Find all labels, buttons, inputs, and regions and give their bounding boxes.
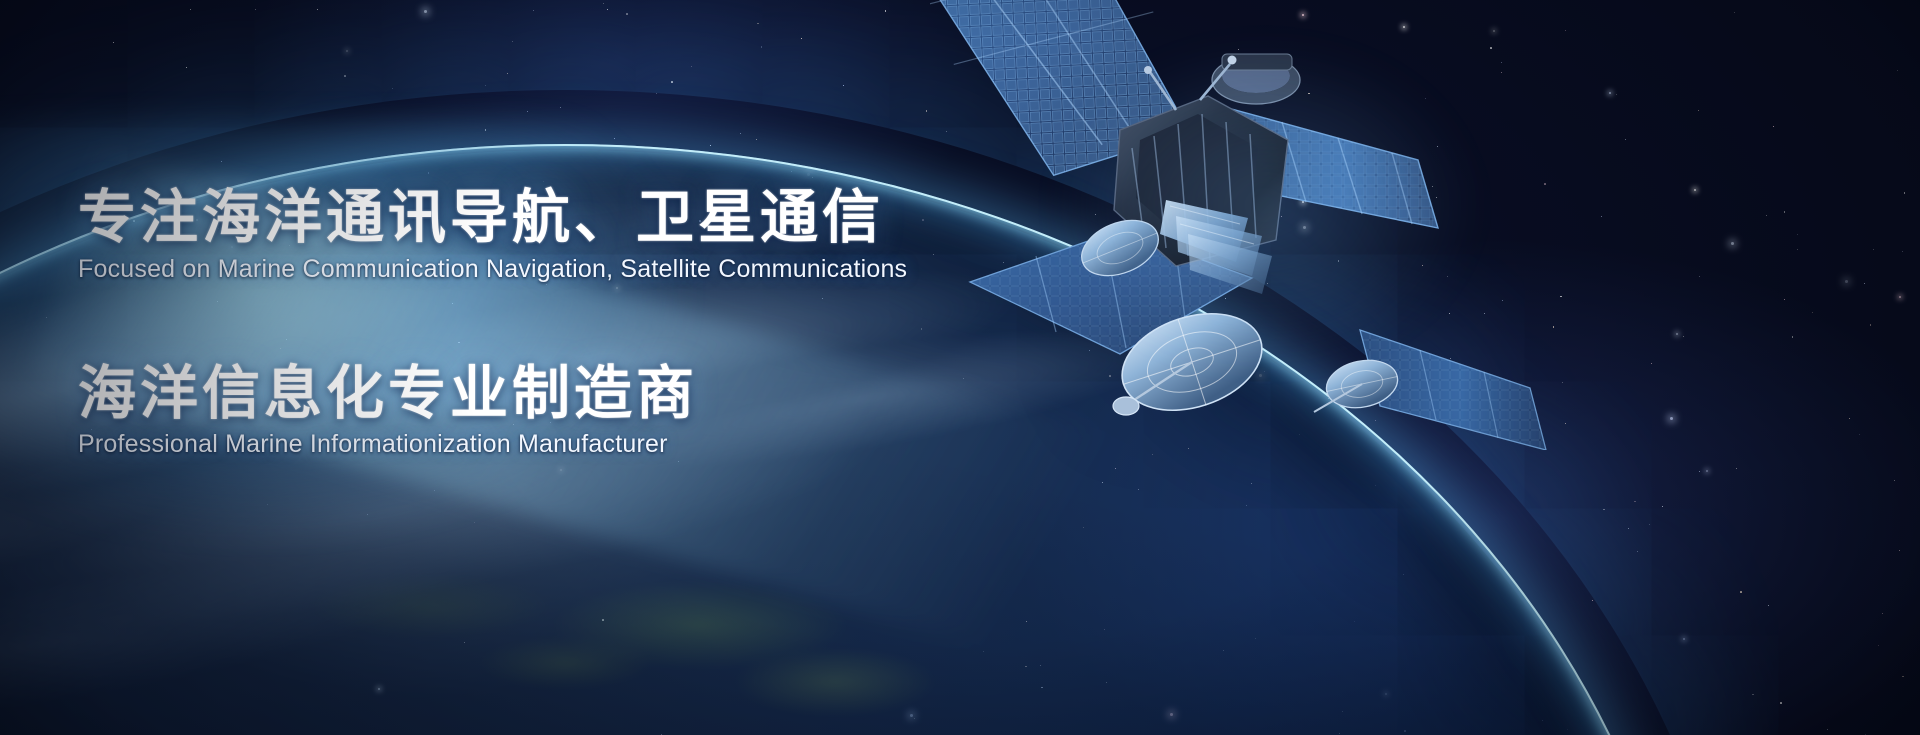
star: [1694, 189, 1696, 191]
star: [1699, 471, 1700, 472]
star: [1897, 70, 1898, 71]
star: [607, 9, 608, 10]
star: [1740, 591, 1742, 593]
star: [1882, 613, 1883, 614]
satellite-glow: [1050, 40, 1480, 370]
star: [255, 9, 256, 10]
star: [512, 41, 513, 42]
star: [1902, 676, 1904, 678]
slogan-primary-en: Focused on Marine Communication Navigati…: [78, 255, 1078, 284]
slogan-secondary-en: Professional Marine Informationization M…: [78, 430, 1078, 459]
star: [626, 13, 628, 15]
star: [1797, 249, 1798, 250]
star: [344, 75, 346, 77]
star: [1698, 110, 1699, 111]
star: [761, 46, 763, 48]
slogan-primary: 专注海洋通讯导航、卫星通信 Focused on Marine Communic…: [78, 186, 1078, 284]
star: [1792, 336, 1794, 338]
star: [1899, 550, 1900, 551]
star: [885, 10, 887, 12]
star: [1780, 702, 1782, 704]
star: [1904, 192, 1906, 194]
star: [533, 10, 534, 11]
star: [1870, 324, 1872, 326]
star: [1902, 251, 1903, 252]
slogan-primary-cn: 专注海洋通讯导航、卫星通信: [78, 186, 1078, 249]
slogan-secondary-cn: 海洋信息化专业制造商: [78, 362, 1078, 425]
star: [1768, 605, 1769, 606]
star: [186, 67, 187, 68]
star: [1784, 299, 1785, 300]
star: [1827, 729, 1828, 730]
star: [1849, 418, 1850, 419]
star: [1873, 249, 1874, 250]
star: [1899, 296, 1901, 298]
star: [1784, 211, 1786, 213]
star: [1878, 645, 1879, 646]
star: [1699, 276, 1700, 277]
star: [392, 88, 393, 89]
star: [843, 85, 844, 86]
star: [1706, 470, 1708, 472]
banner-copy: 专注海洋通讯导航、卫星通信 Focused on Marine Communic…: [78, 186, 1078, 459]
star: [671, 81, 673, 83]
hero-banner: 专注海洋通讯导航、卫星通信 Focused on Marine Communic…: [0, 0, 1920, 735]
star: [1734, 12, 1735, 13]
star: [1752, 694, 1754, 696]
star: [485, 85, 487, 87]
star: [424, 10, 427, 13]
star: [346, 50, 348, 52]
star: [1766, 215, 1767, 216]
star: [507, 73, 508, 74]
star: [691, 66, 692, 67]
star: [1845, 280, 1848, 283]
star: [1773, 126, 1774, 127]
star: [1731, 242, 1734, 245]
slogan-secondary: 海洋信息化专业制造商 Professional Marine Informati…: [78, 362, 1078, 460]
star: [603, 3, 604, 4]
star: [1859, 434, 1860, 435]
star: [317, 9, 318, 10]
star: [190, 9, 191, 10]
star: [926, 110, 928, 112]
star: [1812, 312, 1813, 313]
star: [757, 23, 759, 25]
star: [1736, 468, 1737, 469]
star: [1894, 480, 1895, 481]
star: [801, 38, 802, 39]
star: [113, 42, 114, 43]
star: [1797, 234, 1798, 235]
star: [1864, 283, 1866, 285]
